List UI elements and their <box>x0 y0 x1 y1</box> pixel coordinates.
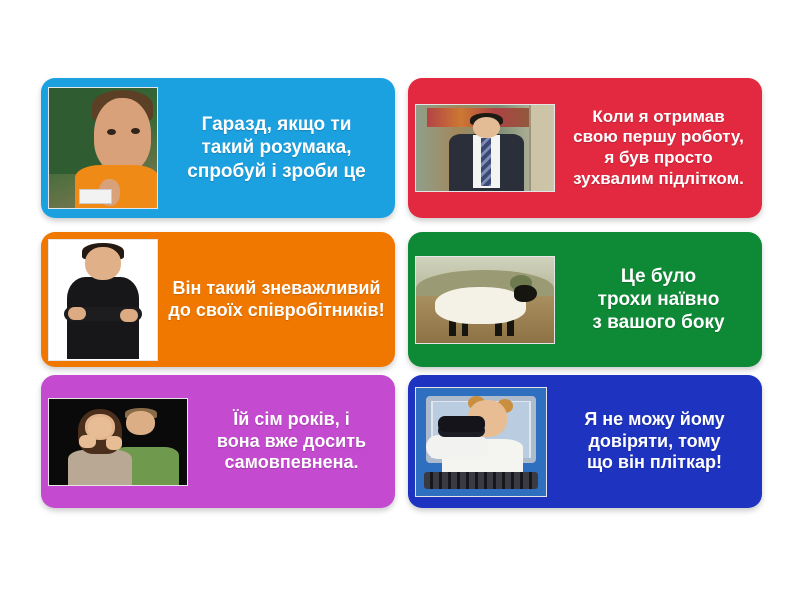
card-4-thumbnail <box>415 256 555 344</box>
card-6-thumbnail <box>415 387 547 497</box>
card-5-thumbnail <box>48 398 188 486</box>
card-3-caption: Він такий зневажливий до своїх співробіт… <box>158 278 395 322</box>
card-1[interactable]: Гаразд, якщо ти такий розумака, спробуй … <box>41 78 395 218</box>
card-2-caption: Коли я отримав свою першу роботу, я був … <box>555 107 762 190</box>
card-5-caption: Їй сім років, і вона вже досить самовпев… <box>188 409 395 475</box>
card-6[interactable]: Я не можу йому довіряти, тому що він плі… <box>408 375 762 508</box>
card-5[interactable]: Їй сім років, і вона вже досить самовпев… <box>41 375 395 508</box>
card-3-thumbnail <box>48 239 158 361</box>
whispering-gossip-illustration <box>49 399 187 485</box>
card-2[interactable]: Коли я отримав свою першу роботу, я був … <box>408 78 762 218</box>
teen-boy-in-suit-illustration <box>416 105 554 191</box>
card-4[interactable]: Це було трохи наївно з вашого боку <box>408 232 762 367</box>
man-in-orange-polo-illustration <box>49 88 157 208</box>
card-4-caption: Це було трохи наївно з вашого боку <box>555 265 762 335</box>
card-6-caption: Я не можу йому довіряти, тому що він плі… <box>547 409 762 475</box>
man-in-black-tee-illustration <box>49 240 157 360</box>
card-2-thumbnail <box>415 104 555 192</box>
card-3[interactable]: Він такий зневажливий до своїх співробіт… <box>41 232 395 367</box>
card-board: Гаразд, якщо ти такий розумака, спробуй … <box>0 0 800 600</box>
card-1-thumbnail <box>48 87 158 209</box>
sheep-painting-illustration <box>416 257 554 343</box>
woman-with-binoculars-illustration <box>416 388 546 496</box>
card-1-caption: Гаразд, якщо ти такий розумака, спробуй … <box>158 113 395 183</box>
